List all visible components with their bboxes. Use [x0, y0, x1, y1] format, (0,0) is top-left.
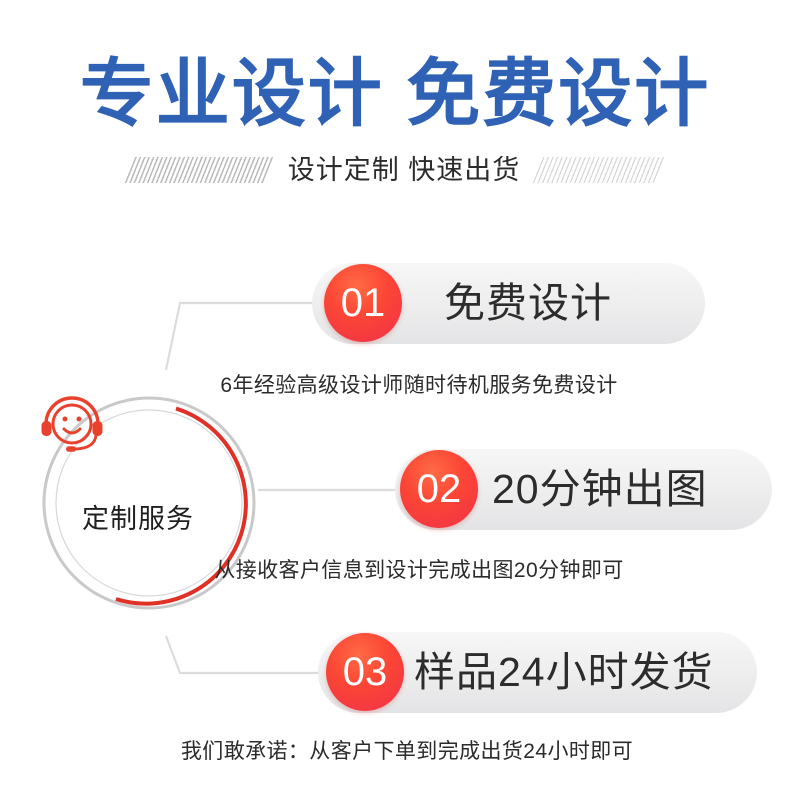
feature-number-01: 01	[341, 283, 386, 323]
feature-badge-02: 02	[400, 450, 478, 528]
headset-smiley-icon	[38, 392, 106, 454]
connector-line-01	[166, 303, 318, 370]
header: 专业设计 免费设计 设计定制 快速出货	[0, 0, 790, 210]
feature-number-03: 03	[343, 652, 388, 692]
feature-desc-01: 6年经验高级设计师随时待机服务免费设计	[0, 372, 790, 400]
feature-desc-03: 我们敢承诺：从客户下单到完成出货24小时即可	[0, 738, 790, 766]
hub-label: 定制服务	[38, 502, 238, 536]
page-title: 专业设计 免费设计	[0, 48, 790, 140]
diagonal-hatch-left-icon	[124, 157, 275, 183]
page-subtitle: 设计定制 快速出货	[288, 155, 521, 185]
feature-badge-01: 01	[324, 264, 402, 342]
feature-desc-02: 从接收客户信息到设计完成出图20分钟即可	[0, 557, 790, 585]
feature-title-02: 20分钟出图	[492, 464, 708, 514]
diagonal-hatch-right-icon	[533, 157, 666, 183]
feature-title-01: 免费设计	[444, 278, 612, 328]
feature-title-03: 样品24小时发货	[414, 647, 714, 697]
feature-badge-03: 03	[326, 633, 404, 711]
feature-number-02: 02	[417, 469, 462, 509]
subtitle-row: 设计定制 快速出货	[0, 152, 790, 188]
connector-line-03	[166, 636, 325, 673]
infographic-page: 专业设计 免费设计 设计定制 快速出货	[0, 0, 790, 812]
